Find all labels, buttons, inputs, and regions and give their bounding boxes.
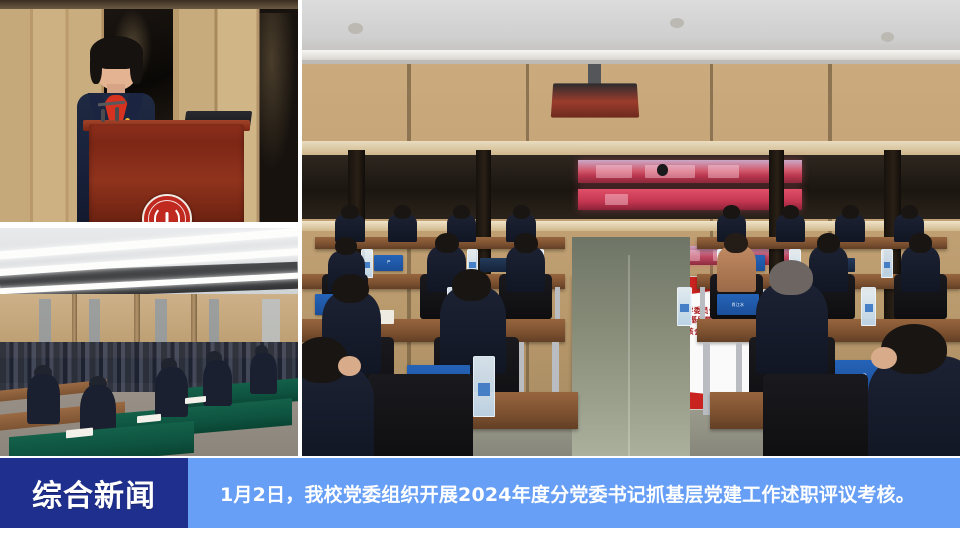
news-caption-bar: 综合新闻 1月2日，我校党委组织开展2024年度分党委书记抓基层党建工作述职评议… (0, 458, 960, 528)
attendee-near-1-head (332, 274, 369, 304)
table-leg-near-right (703, 342, 710, 415)
attendee-near-3 (756, 283, 828, 374)
attendee-mid-4-head (724, 233, 748, 253)
water-bottle-8 (677, 287, 692, 325)
center-aisle (572, 237, 690, 456)
hall-attendee-3 (155, 367, 188, 417)
hall-window-3 (155, 299, 167, 345)
hall-window-4 (209, 299, 219, 345)
microphone-right (115, 107, 119, 121)
hall-attendee-5 (250, 353, 277, 394)
category-tag[interactable]: 综合新闻 (0, 458, 188, 528)
water-bottle-9 (861, 287, 876, 325)
name-placard-2: 肖江水 (717, 294, 760, 315)
ceiling-spotlight-1 (348, 23, 362, 34)
seal-inner-ring (148, 200, 186, 222)
upper-soffit (302, 141, 960, 156)
led-text-block-2 (645, 165, 694, 178)
hall-window-1 (39, 299, 51, 345)
name-placard-5: 严 (374, 255, 403, 271)
led-text-block-4 (605, 194, 627, 205)
ceiling-strip (0, 0, 298, 9)
attendee-far-8-head (901, 205, 918, 219)
wall-light-reflection-right (256, 13, 295, 168)
photo-wide-conference-hall (0, 228, 298, 456)
chair-front-2 (763, 374, 868, 456)
attendee-mid-1-head (335, 237, 357, 255)
attendee-mid-6-head (909, 233, 933, 253)
news-photo-page: 中共重庆师范大学委员会 2024年度分党委书记抓基层党建工作 述职评议考核会 2… (0, 0, 960, 540)
caption-text: 1月2日，我校党委组织开展2024年度分党委书记抓基层党建工作述职评议考核。 (188, 480, 923, 507)
category-tag-label: 综合新闻 (32, 471, 156, 515)
attendee-mid-4 (717, 246, 756, 292)
attendee-far-5-head (723, 205, 740, 219)
attendee-near-3-head (769, 260, 812, 295)
water-bottle-6 (881, 249, 893, 278)
speaker-hair-left (90, 47, 102, 84)
attendee-far-2-head (394, 205, 411, 219)
page-footer-spacer (0, 528, 960, 540)
led-text-block-3 (708, 165, 739, 178)
attendee-mid-3 (506, 246, 545, 292)
speaker-hair-right (130, 47, 142, 84)
attendee-far-1-head (341, 205, 358, 219)
hall-attendee-4 (203, 360, 233, 406)
attendee-mid-6 (901, 246, 940, 292)
attendee-near-2-head (452, 269, 491, 301)
led-text-block-1 (596, 165, 632, 178)
ceiling-spotlight-3 (881, 32, 894, 42)
attendee-mid-5 (809, 246, 848, 292)
attendee-far-7-head (842, 205, 859, 219)
attendee-far-4-head (513, 205, 530, 219)
attendee-mid-5-head (817, 233, 841, 253)
ceiling-light-rail (302, 50, 960, 60)
chair-front-1 (368, 374, 473, 456)
hall-window-5 (262, 299, 280, 345)
microphone-left (101, 109, 105, 122)
university-seal-icon (142, 194, 192, 222)
caption-body: 1月2日，我校党委组织开展2024年度分党委书记抓基层党建工作述职评议考核。 (188, 458, 960, 528)
hall-window-2 (89, 299, 99, 345)
attendee-mid-2-head (435, 233, 459, 253)
hall-attendee-1 (27, 374, 60, 424)
attendee-mid-3-head (514, 233, 538, 253)
attendee-front-left-face (338, 356, 360, 376)
aisle-seam-line (628, 255, 631, 456)
photo-speaker-at-podium (0, 0, 298, 222)
ceiling-projector (551, 83, 639, 118)
photo-main-conference-room: 中共重庆师范大学委员会 2024年度分党委书记抓基层党建工作 述职评议考核会 2… (302, 0, 960, 456)
wooden-podium (89, 124, 244, 222)
attendee-far-3-head (453, 205, 470, 219)
room-camera-icon (657, 164, 668, 176)
attendee-far-6-head (782, 205, 799, 219)
ceiling-spotlight-2 (670, 18, 683, 28)
photo-collage: 中共重庆师范大学委员会 2024年度分党委书记抓基层党建工作 述职评议考核会 2… (0, 0, 960, 456)
water-bottle-10 (473, 356, 495, 417)
